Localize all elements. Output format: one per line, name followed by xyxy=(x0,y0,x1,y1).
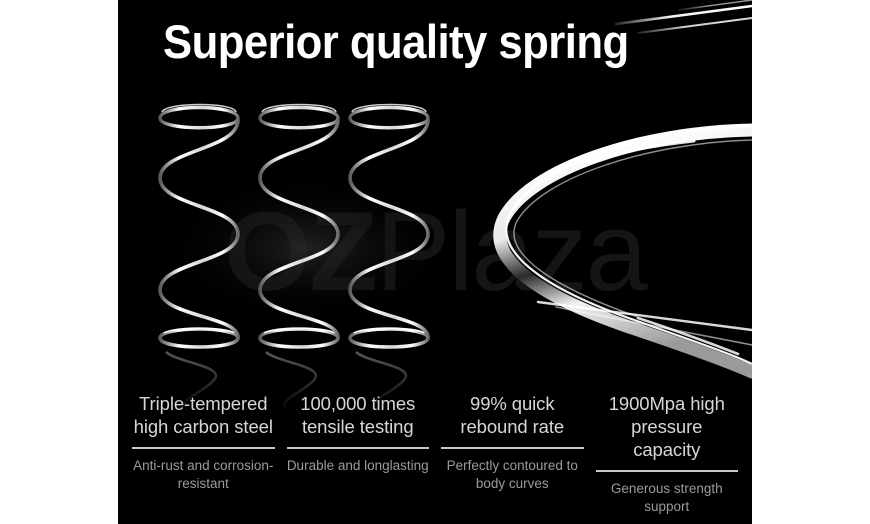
feature-item-tensile: 100,000 times tensile testing Durable an… xyxy=(281,392,436,475)
product-feature-banner-page: OZPlaza xyxy=(0,0,870,524)
feature-heading: 100,000 times tensile testing xyxy=(287,392,430,438)
feature-list: Triple-tempered high carbon steel Anti-r… xyxy=(126,392,744,516)
feature-subtext: Durable and longlasting xyxy=(287,457,430,475)
feature-heading: 1900Mpa high pressure capacity xyxy=(596,392,739,461)
feature-subtext: Generous strength support xyxy=(596,480,739,516)
watermark-oz-text: OZ xyxy=(224,189,376,314)
ozplaza-watermark: OZPlaza xyxy=(118,196,752,308)
feature-divider xyxy=(441,447,584,449)
feature-subtext: Anti-rust and corrosion-resistant xyxy=(132,457,275,493)
feature-heading: 99% quick rebound rate xyxy=(441,392,584,438)
watermark-plaza-text: Plaza xyxy=(376,189,646,314)
feature-item-rebound: 99% quick rebound rate Perfectly contour… xyxy=(435,392,590,493)
feature-heading: Triple-tempered high carbon steel xyxy=(132,392,275,438)
top-corner-wires xyxy=(616,0,752,33)
feature-divider xyxy=(287,447,430,449)
feature-item-pressure: 1900Mpa high pressure capacity Generous … xyxy=(590,392,745,516)
feature-divider xyxy=(132,447,275,449)
feature-item-steel: Triple-tempered high carbon steel Anti-r… xyxy=(126,392,281,493)
feature-subtext: Perfectly contoured to body curves xyxy=(441,457,584,493)
black-banner: OZPlaza xyxy=(118,0,752,524)
feature-divider xyxy=(596,470,739,472)
banner-title: Superior quality spring xyxy=(163,14,629,70)
